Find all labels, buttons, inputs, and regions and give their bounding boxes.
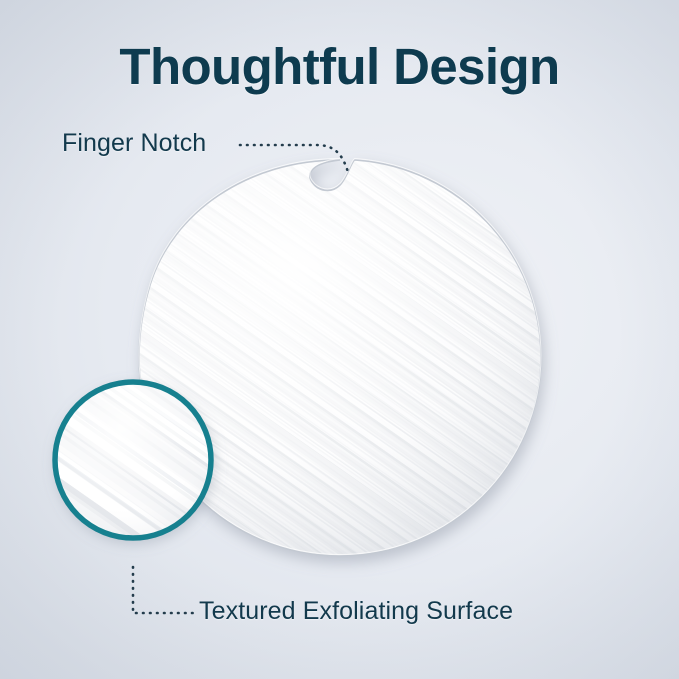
- page-title: Thoughtful Design: [0, 40, 679, 94]
- product-infographic: Thoughtful Design Finger Notch Textured …: [0, 0, 679, 679]
- background-vignette: [0, 0, 679, 679]
- callout-label-finger-notch: Finger Notch: [62, 129, 206, 158]
- callout-label-textured-surface: Textured Exfoliating Surface: [199, 597, 513, 626]
